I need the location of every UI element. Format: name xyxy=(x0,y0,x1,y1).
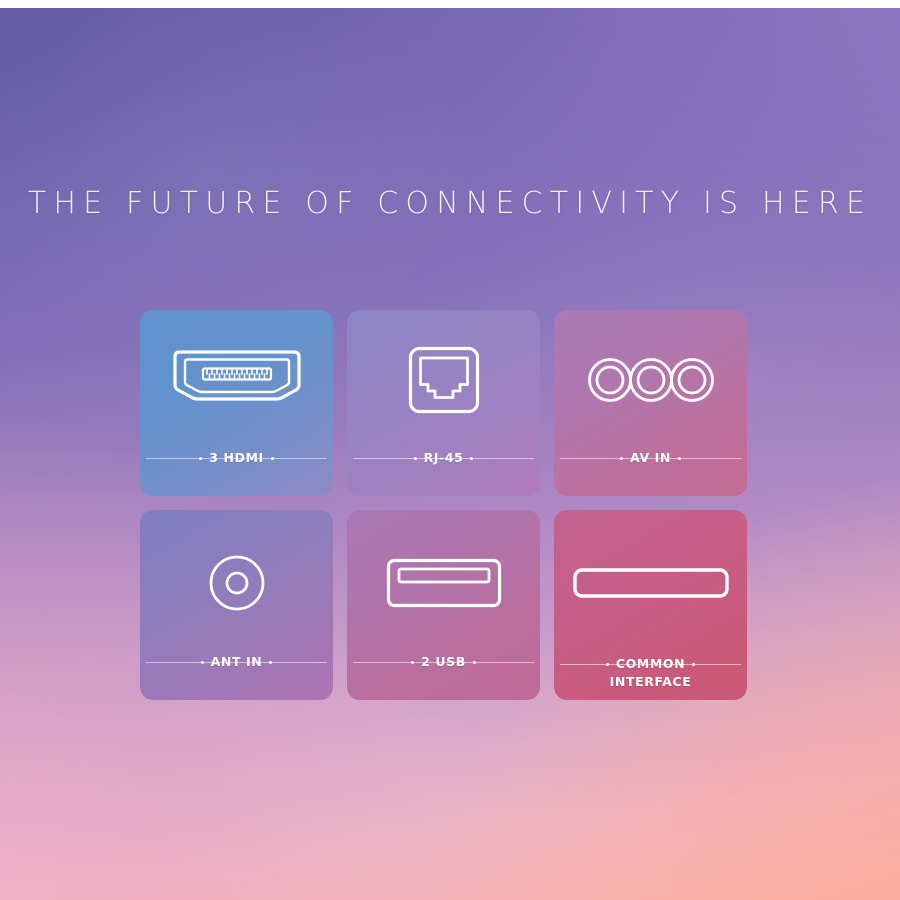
port-label-text: ANT IN xyxy=(211,656,263,669)
port-tile-av-in[interactable]: AV IN xyxy=(554,310,747,496)
port-label-rj45: RJ-45 xyxy=(347,450,540,466)
bullet-dot-right xyxy=(678,457,681,460)
bullet-dot-right xyxy=(269,661,272,664)
bullet-dot-left xyxy=(201,661,204,664)
port-label-text: RJ-45 xyxy=(424,452,464,465)
bullet-dot-left xyxy=(620,457,623,460)
port-tile-common-interface[interactable]: COMMON INTERFACE xyxy=(554,510,747,700)
port-label-text-line2: INTERFACE xyxy=(554,676,747,689)
common-interface-slot-icon xyxy=(554,510,747,655)
port-label-text: 2 USB xyxy=(421,656,466,669)
port-label-common-interface: COMMON INTERFACE xyxy=(554,656,747,672)
bullet-dot-right xyxy=(692,663,695,666)
port-tile-usb[interactable]: 2 USB xyxy=(347,510,540,700)
port-label-usb: 2 USB xyxy=(347,654,540,670)
port-tile-grid: 3 HDMI RJ-45 xyxy=(140,310,748,700)
port-label-text: AV IN xyxy=(630,452,671,465)
bullet-dot-right xyxy=(271,457,274,460)
rj45-ethernet-port-icon xyxy=(347,310,540,450)
port-label-hdmi: 3 HDMI xyxy=(140,450,333,466)
bullet-dot-left xyxy=(414,457,417,460)
bullet-dot-left xyxy=(606,663,609,666)
bullet-dot-right xyxy=(473,661,476,664)
page-title: THE FUTURE OF CONNECTIVITY IS HERE xyxy=(0,186,900,221)
port-label-ant-in: ANT IN xyxy=(140,654,333,670)
antenna-coaxial-port-icon xyxy=(140,510,333,655)
port-label-text: 3 HDMI xyxy=(209,452,264,465)
av-rca-jacks-icon xyxy=(554,310,747,450)
bullet-dot-right xyxy=(470,457,473,460)
bullet-dot-left xyxy=(411,661,414,664)
hdmi-port-icon xyxy=(140,310,333,446)
port-label-av-in: AV IN xyxy=(554,450,747,466)
port-tile-ant-in[interactable]: ANT IN xyxy=(140,510,333,700)
bullet-dot-left xyxy=(199,457,202,460)
port-tile-hdmi[interactable]: 3 HDMI xyxy=(140,310,333,496)
poster-canvas: THE FUTURE OF CONNECTIVITY IS HERE xyxy=(0,0,900,900)
usb-port-icon xyxy=(347,510,540,655)
port-label-text: COMMON xyxy=(616,658,685,671)
port-tile-rj45[interactable]: RJ-45 xyxy=(347,310,540,496)
